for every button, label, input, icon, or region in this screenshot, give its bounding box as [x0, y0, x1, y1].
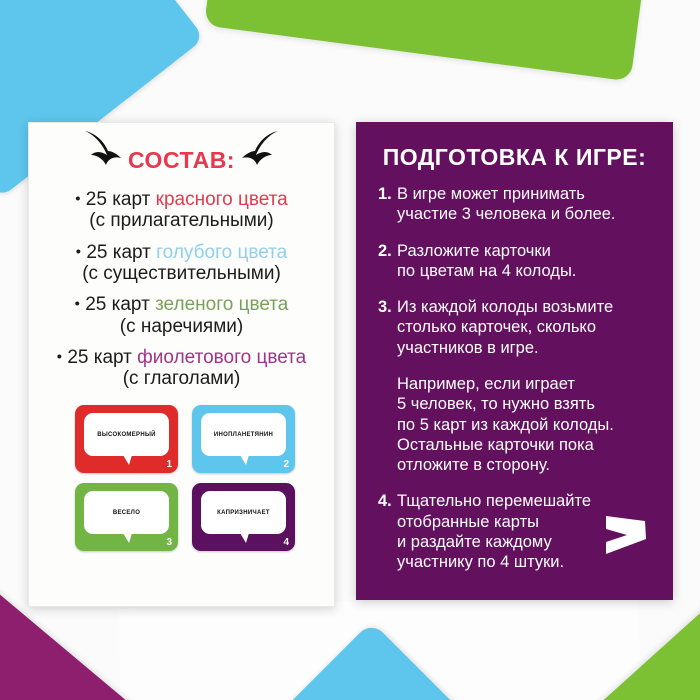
- list-item: • 25 карт фиолетового цвета (с глаголами…: [29, 347, 334, 391]
- speech-bubble-icon: КАПРИЗНИЧАЕТ: [201, 491, 286, 534]
- item-prefix: 25 карт: [85, 294, 155, 315]
- bullet-icon: •: [57, 349, 62, 366]
- step-number: 2.: [378, 241, 397, 282]
- item-subtext: (с существительными): [29, 263, 334, 285]
- sample-card-number: 1: [166, 459, 172, 470]
- list-item: • 25 карт зеленого цвета (с наречиями): [29, 294, 334, 338]
- list-item: • 25 карт красного цвета (с прилагательн…: [29, 189, 334, 233]
- speech-bubble-icon: ИНОПЛАНЕТЯНИН: [201, 413, 286, 456]
- sample-card-word: КАПРИЗНИЧАЕТ: [214, 510, 273, 516]
- sample-card-number: 2: [283, 459, 289, 470]
- list-item: 2. Разложите карточки по цветам на 4 кол…: [378, 241, 659, 282]
- preparation-page: ПОДГОТОВКА К ИГРЕ: 1. В игре может прини…: [356, 122, 673, 600]
- item-subtext: (с глаголами): [29, 368, 334, 390]
- item-subtext: (с наречиями): [29, 316, 334, 338]
- sample-card-violet: КАПРИЗНИЧАЕТ 4: [192, 483, 295, 551]
- sample-card-word: ВЫСОКОМЕРНЫЙ: [94, 432, 159, 438]
- bullet-icon: •: [75, 191, 80, 208]
- composition-list: • 25 карт красного цвета (с прилагательн…: [29, 189, 334, 391]
- sample-card-number: 3: [166, 537, 172, 548]
- item-prefix: 25 карт: [86, 189, 156, 210]
- step-text: Разложите карточки по цветам на 4 колоды…: [397, 241, 659, 282]
- bullet-icon: •: [76, 243, 81, 260]
- item-color-word: фиолетового цвета: [137, 347, 306, 368]
- sample-cards-grid: ВЫСОКОМЕРНЫЙ 1 ИНОПЛАНЕТЯНИН 2 ВЕСЕЛО 3 …: [75, 405, 295, 551]
- list-item: 1. В игре может принимать участие 3 чело…: [378, 184, 659, 225]
- sample-card-blue: ИНОПЛАНЕТЯНИН 2: [192, 405, 295, 473]
- sample-card-green: ВЕСЕЛО 3: [75, 483, 178, 551]
- step-text: В игре может принимать участие 3 человек…: [397, 184, 659, 225]
- sample-card-word: ВЕСЕЛО: [110, 510, 143, 516]
- step-text: Из каждой колоды возьмите столько карточ…: [397, 297, 659, 358]
- leaf-flourish-icon: [226, 129, 282, 182]
- bullet-icon: •: [75, 296, 80, 313]
- item-subtext: (с прилагательными): [29, 210, 334, 232]
- sample-card-red: ВЫСОКОМЕРНЫЙ 1: [75, 405, 178, 473]
- chevron-right-icon: [603, 511, 649, 564]
- page-title: ПОДГОТОВКА К ИГРЕ:: [356, 144, 673, 171]
- page-title: СОСТАВ:: [29, 147, 334, 174]
- item-prefix: 25 карт: [86, 242, 156, 263]
- list-item: • 25 карт голубого цвета (с существитель…: [29, 242, 334, 286]
- screenshot-stage: СОСТАВ: • 25 карт красного цвета (с прил…: [0, 0, 700, 700]
- list-item: 3. Из каждой колоды возьмите столько кар…: [378, 297, 659, 358]
- composition-header: СОСТАВ:: [29, 129, 334, 187]
- composition-page: СОСТАВ: • 25 карт красного цвета (с прил…: [28, 122, 335, 607]
- item-color-word: зеленого цвета: [155, 294, 288, 315]
- item-color-word: красного цвета: [156, 189, 288, 210]
- item-color-word: голубого цвета: [156, 242, 287, 263]
- step-number: 4.: [378, 491, 397, 572]
- sample-card-number: 4: [283, 537, 289, 548]
- speech-bubble-icon: ВЫСОКОМЕРНЫЙ: [84, 413, 169, 456]
- background-green-card-top: [204, 0, 650, 81]
- speech-bubble-icon: ВЕСЕЛО: [84, 491, 169, 534]
- step-number: 3.: [378, 297, 397, 358]
- sample-card-word: ИНОПЛАНЕТЯНИН: [211, 432, 276, 438]
- item-prefix: 25 карт: [67, 347, 137, 368]
- example-paragraph: Например, если играет 5 человек, то нужн…: [356, 374, 673, 475]
- step-number: 1.: [378, 184, 397, 225]
- preparation-steps-list: 1. В игре может принимать участие 3 чело…: [356, 184, 673, 358]
